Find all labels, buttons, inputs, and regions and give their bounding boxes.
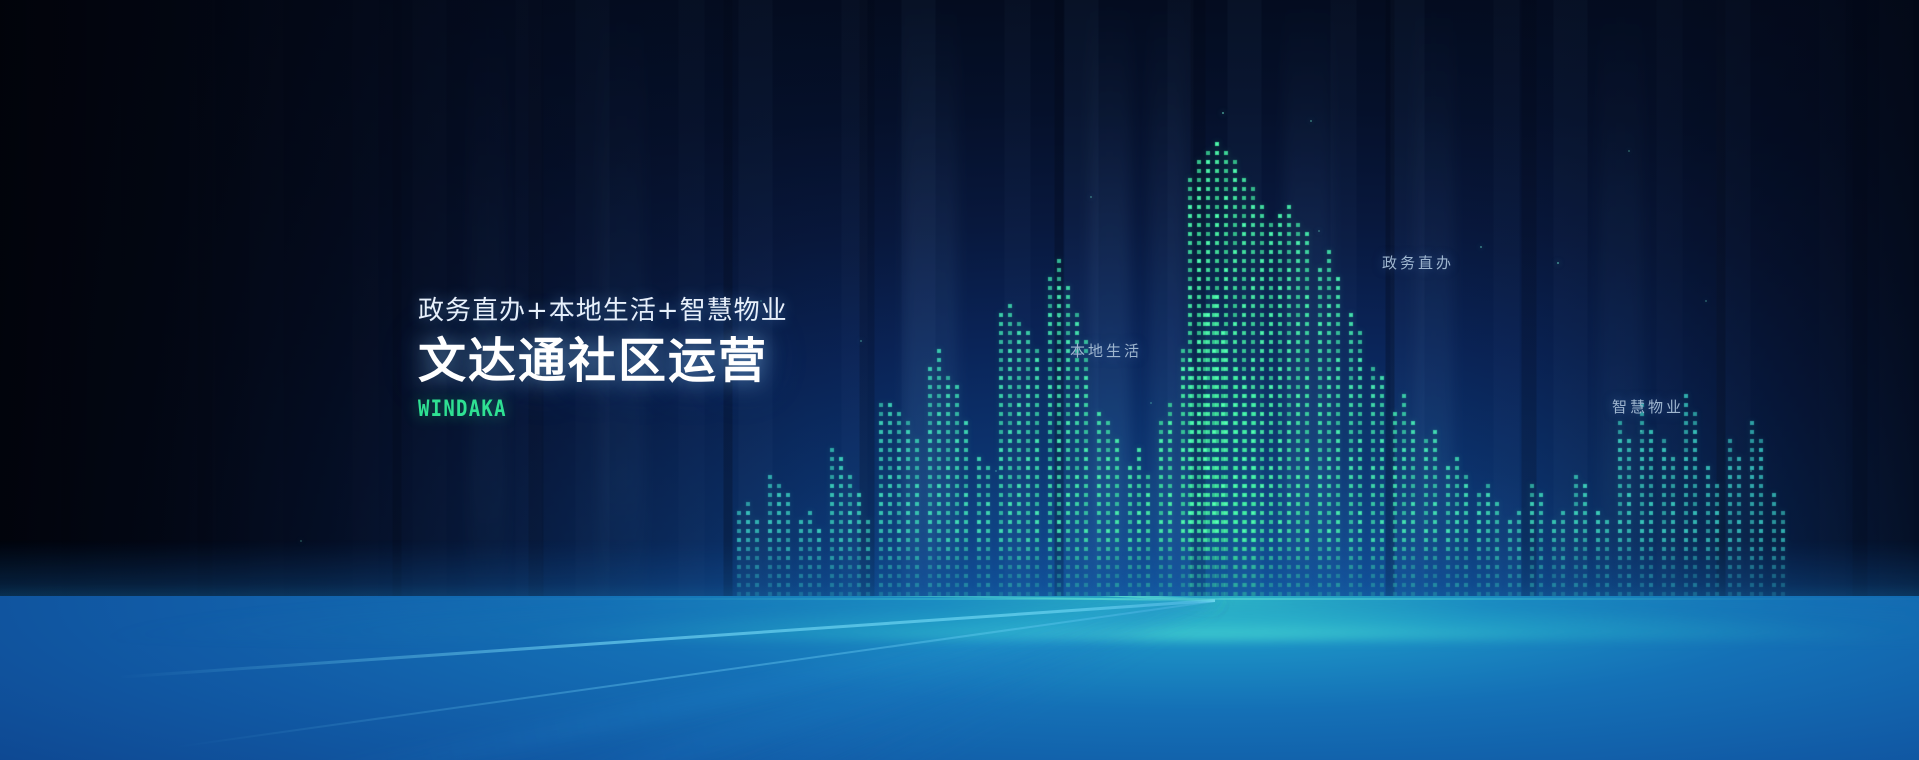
floor-ray-7 [175, 600, 1215, 748]
district-label-2: 本地生活 [1070, 340, 1142, 361]
brand-wordmark: WINDAKA [418, 397, 736, 422]
horizon-glow [0, 596, 1919, 640]
horizon-line [0, 598, 1919, 600]
banner-title: 文达通社区运营 [418, 335, 788, 389]
district-label-1: 政务直办 [1382, 252, 1454, 273]
floor-ray-9 [299, 596, 1215, 760]
floor-ray-6 [117, 599, 1215, 679]
floor-ray-10 [371, 596, 1215, 760]
perspective-floor [0, 596, 1919, 760]
banner-stage: 政务直办本地生活智慧物业 政务直办+本地生活+智慧物业 文达通社区运营 WIND… [0, 0, 1919, 760]
district-label-3: 智慧物业 [1612, 396, 1684, 417]
floor-ray-11 [428, 596, 1215, 760]
headline-block: 政务直办+本地生活+智慧物业 文达通社区运营 WINDAKA [418, 290, 788, 422]
floor-ray-8 [233, 596, 1215, 760]
banner-subtitle: 政务直办+本地生活+智慧物业 [418, 290, 788, 327]
dot-matrix-skyline-chart [0, 0, 1919, 620]
